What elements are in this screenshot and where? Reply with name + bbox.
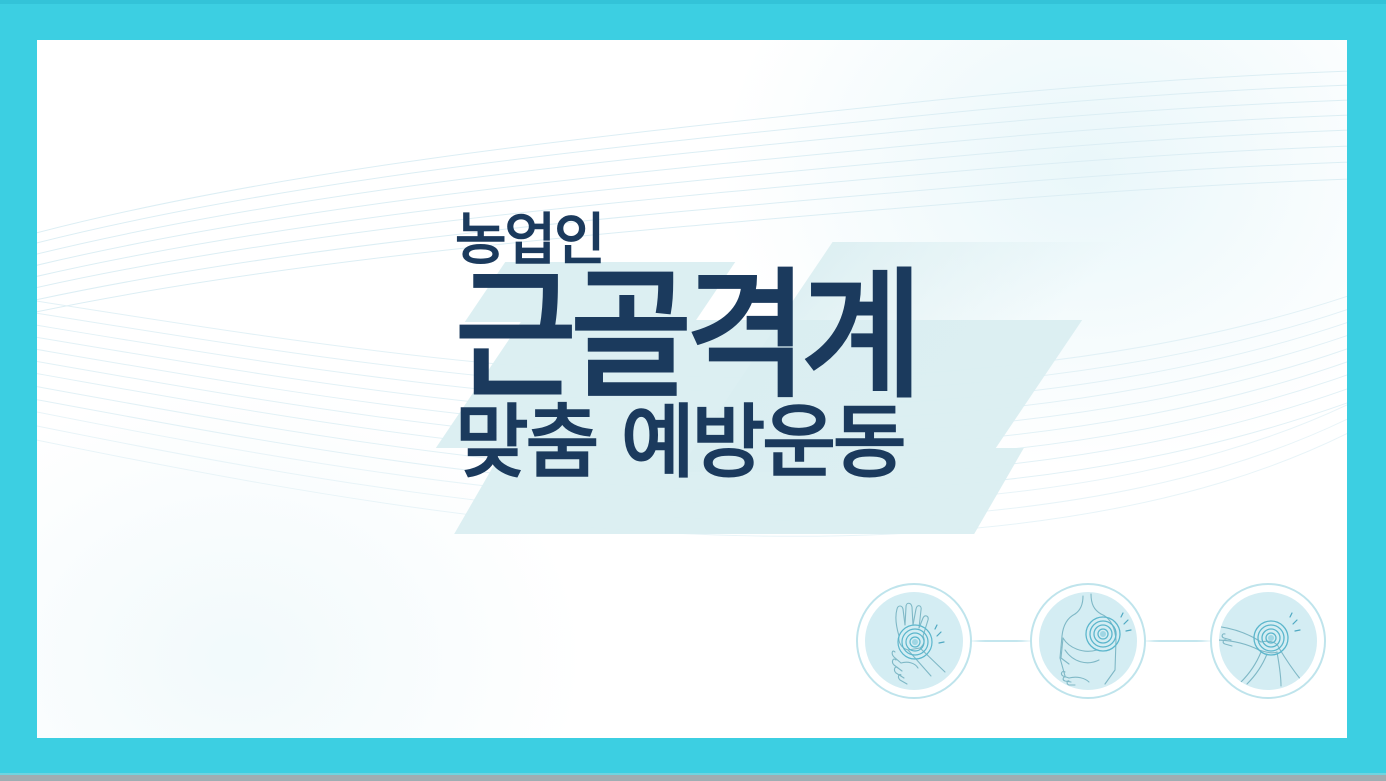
knee-pain-icon bbox=[1210, 583, 1326, 699]
frame-bottom-hairline bbox=[0, 775, 1386, 781]
title-subline: 맞춤 예방운동 bbox=[455, 400, 995, 486]
shoulder-pain-glyph bbox=[1039, 592, 1137, 690]
title-headline: 근골격계 bbox=[455, 272, 995, 401]
title-block: 농업인 근골격계 맞춤 예방운동 bbox=[455, 212, 995, 486]
wrist-pain-icon bbox=[856, 583, 972, 699]
shoulder-pain-icon bbox=[1030, 583, 1146, 699]
body-part-icon-row bbox=[856, 583, 1336, 713]
knee-pain-glyph bbox=[1219, 592, 1317, 690]
slide-canvas: 농업인 근골격계 맞춤 예방운동 bbox=[37, 40, 1347, 738]
video-title-card: 농업인 근골격계 맞춤 예방운동 bbox=[0, 0, 1386, 781]
frame-top-hairline bbox=[0, 0, 1386, 4]
wrist-pain-glyph bbox=[865, 592, 963, 690]
icon-connector-1 bbox=[968, 640, 1030, 642]
icon-connector-2 bbox=[1142, 640, 1210, 642]
